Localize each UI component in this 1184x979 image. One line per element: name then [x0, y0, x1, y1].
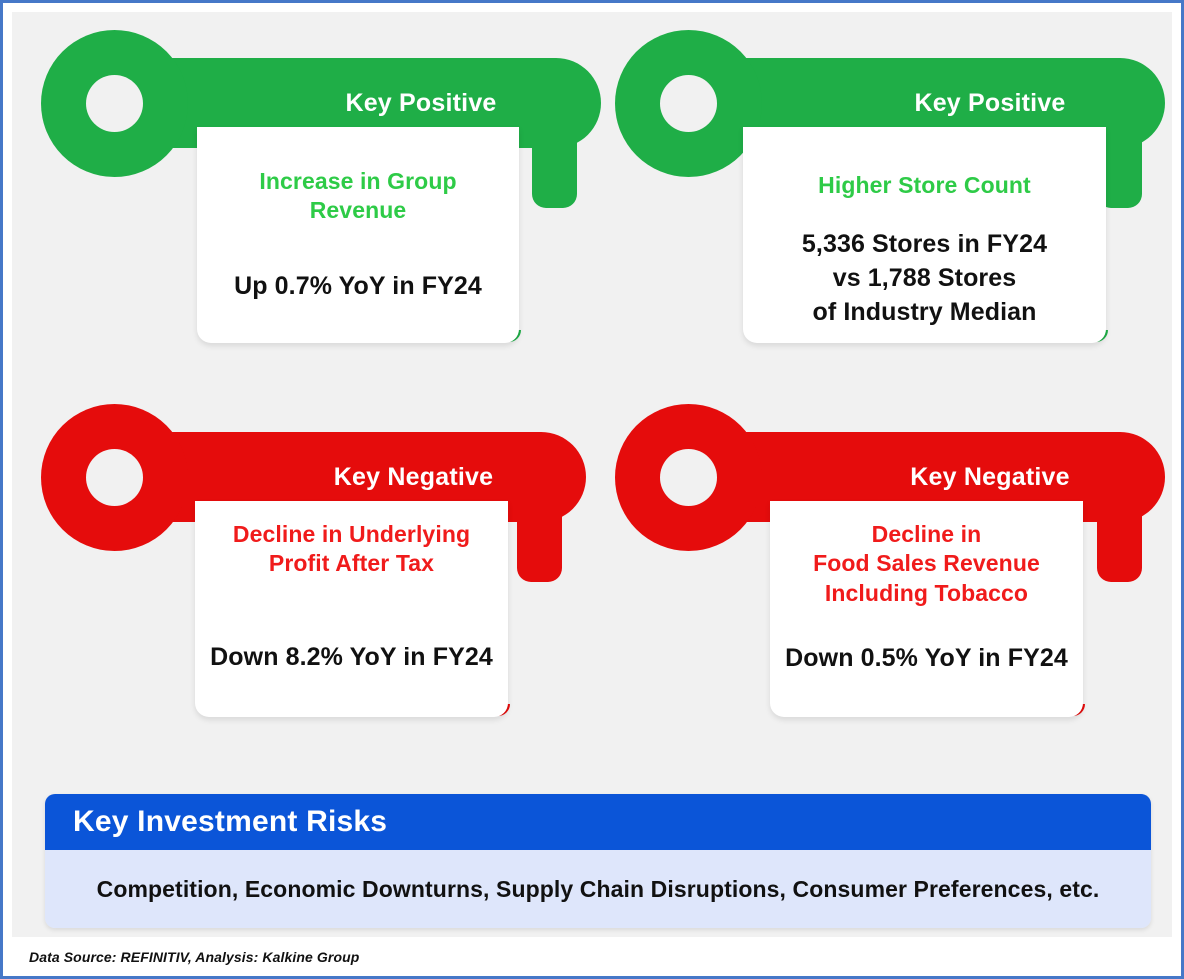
- key-card-positive-stores: Key Positive Higher Store Count 5,336 St…: [615, 30, 1165, 370]
- card-title-line: Decline in Underlying: [233, 520, 470, 549]
- card-value-line: of Industry Median: [802, 296, 1047, 330]
- key-investment-risks-panel: Key Investment Risks Competition, Econom…: [45, 794, 1151, 928]
- card-value-line: Down 8.2% YoY in FY24: [210, 641, 493, 675]
- card-title-line: Including Tobacco: [813, 579, 1040, 608]
- key-head-ring-icon: [615, 30, 762, 177]
- key-head-ring-icon: [41, 30, 188, 177]
- infographic-canvas: Key Positive Increase in Group Revenue U…: [12, 12, 1172, 937]
- card-title-line: Increase in Group: [259, 167, 456, 196]
- card-value-line: 5,336 Stores in FY24: [802, 228, 1047, 262]
- card-title: Decline in Underlying Profit After Tax: [233, 520, 470, 579]
- card-value: Up 0.7% YoY in FY24: [234, 270, 482, 304]
- card-title-line: Profit After Tax: [233, 549, 470, 578]
- key-tooth-icon: [532, 138, 577, 208]
- key-tooth-icon: [1097, 512, 1142, 582]
- data-source-footnote: Data Source: REFINITIV, Analysis: Kalkin…: [29, 949, 359, 965]
- card-value-line: Up 0.7% YoY in FY24: [234, 270, 482, 304]
- card-title: Decline in Food Sales Revenue Including …: [813, 520, 1040, 608]
- risks-body-text: Competition, Economic Downturns, Supply …: [45, 850, 1151, 928]
- card-value: Down 0.5% YoY in FY24: [785, 642, 1068, 676]
- card-value: 5,336 Stores in FY24 vs 1,788 Stores of …: [802, 228, 1047, 329]
- infographic-page: Key Positive Increase in Group Revenue U…: [0, 0, 1184, 979]
- key-head-ring-icon: [615, 404, 762, 551]
- card-body: Higher Store Count 5,336 Stores in FY24 …: [743, 127, 1106, 343]
- card-value-line: vs 1,788 Stores: [802, 262, 1047, 296]
- card-title-line: Revenue: [259, 196, 456, 225]
- card-title-line: Decline in: [813, 520, 1040, 549]
- key-tooth-icon: [517, 512, 562, 582]
- key-head-ring-icon: [41, 404, 188, 551]
- card-value: Down 8.2% YoY in FY24: [210, 641, 493, 675]
- card-body: Increase in Group Revenue Up 0.7% YoY in…: [197, 127, 519, 343]
- card-body: Decline in Food Sales Revenue Including …: [770, 501, 1083, 717]
- risks-header-title: Key Investment Risks: [45, 794, 1151, 850]
- card-value-line: Down 0.5% YoY in FY24: [785, 642, 1068, 676]
- card-title-line: Food Sales Revenue: [813, 549, 1040, 578]
- card-body: Decline in Underlying Profit After Tax D…: [195, 501, 508, 717]
- key-card-positive-revenue: Key Positive Increase in Group Revenue U…: [41, 30, 601, 370]
- card-title-line: Higher Store Count: [818, 171, 1031, 200]
- card-title: Increase in Group Revenue: [259, 167, 456, 226]
- key-card-negative-food: Key Negative Decline in Food Sales Reven…: [615, 404, 1165, 744]
- key-card-negative-profit: Key Negative Decline in Underlying Profi…: [41, 404, 601, 744]
- card-title: Higher Store Count: [818, 171, 1031, 200]
